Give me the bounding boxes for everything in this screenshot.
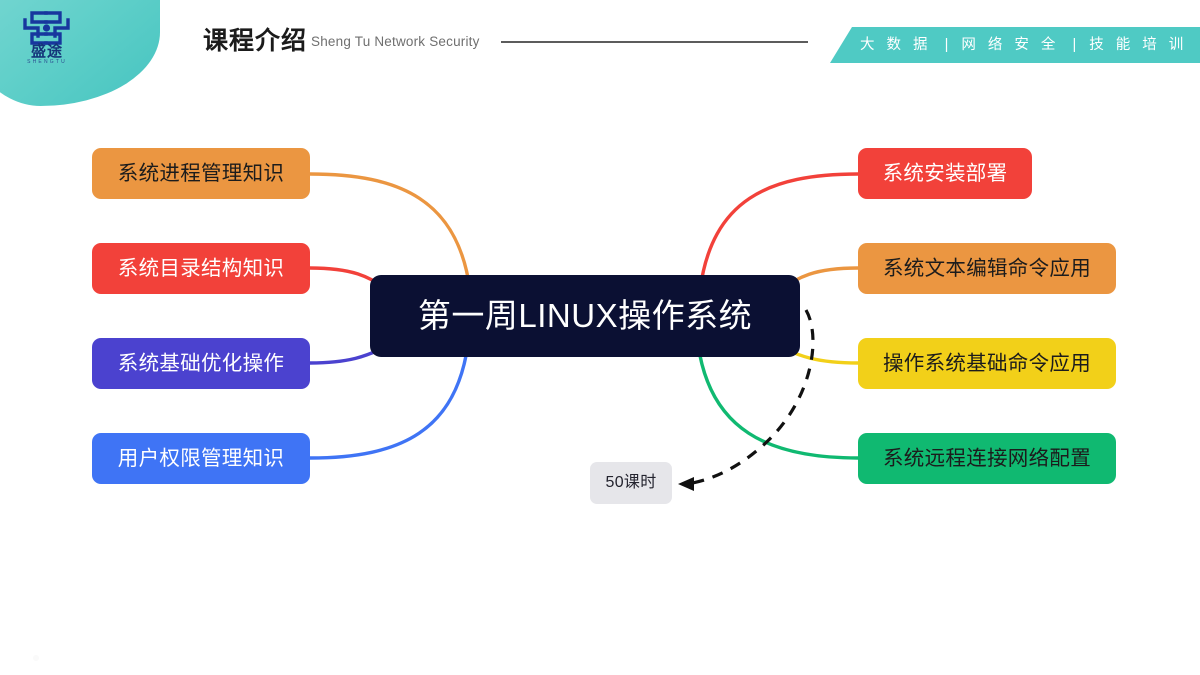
edge-right-0 [700, 174, 858, 290]
mindmap-canvas: 第一周LINUX操作系统 系统进程管理知识 系统目录结构知识 系统基础优化操作 … [0, 0, 1200, 675]
mindmap-node-basic-commands[interactable]: 操作系统基础命令应用 [858, 338, 1116, 389]
mindmap-node-remote-network-config[interactable]: 系统远程连接网络配置 [858, 433, 1116, 484]
mindmap-node-process-management[interactable]: 系统进程管理知识 [92, 148, 310, 199]
mindmap-node-base-optimization[interactable]: 系统基础优化操作 [92, 338, 310, 389]
mindmap-node-label: 系统目录结构知识 [118, 258, 284, 280]
mindmap-node-label: 系统进程管理知识 [118, 163, 284, 185]
mindmap-node-label: 用户权限管理知识 [118, 448, 284, 470]
mindmap-center-node[interactable]: 第一周LINUX操作系统 [370, 275, 800, 357]
hours-arrowhead-icon [678, 477, 694, 491]
mindmap-node-system-install[interactable]: 系统安装部署 [858, 148, 1032, 199]
mindmap-node-label: 系统基础优化操作 [118, 353, 284, 375]
mindmap-node-directory-structure[interactable]: 系统目录结构知识 [92, 243, 310, 294]
mindmap-node-label: 系统安装部署 [883, 163, 1008, 185]
course-hours-badge[interactable]: 50课时 [590, 462, 672, 504]
mindmap-node-text-editing-commands[interactable]: 系统文本编辑命令应用 [858, 243, 1116, 294]
mindmap-node-label: 系统文本编辑命令应用 [883, 258, 1091, 280]
edge-left-0 [310, 174, 470, 290]
mindmap-node-user-permissions[interactable]: 用户权限管理知识 [92, 433, 310, 484]
mindmap-node-label: 系统远程连接网络配置 [883, 448, 1091, 470]
mindmap-node-label: 操作系统基础命令应用 [883, 353, 1091, 375]
course-hours-label: 50课时 [606, 474, 657, 492]
mindmap-center-label: 第一周LINUX操作系统 [418, 298, 752, 334]
corner-artifact [33, 655, 39, 661]
